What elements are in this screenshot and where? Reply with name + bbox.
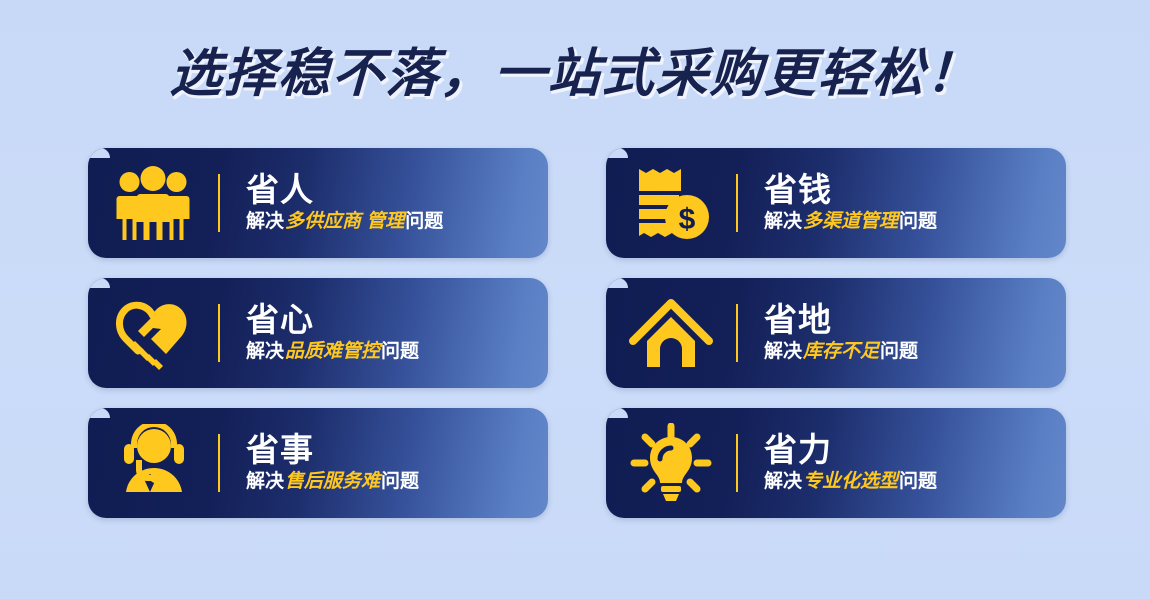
card-title: 省力 (764, 431, 937, 469)
card-title: 省钱 (764, 171, 937, 209)
benefit-card-sheng-xin[interactable]: 省心 解决品质难管控问题 (88, 278, 548, 388)
lightbulb-icon (606, 408, 736, 518)
card-subtitle: 解决库存不足问题 (764, 341, 918, 364)
subtitle-suffix: 问题 (405, 211, 443, 232)
card-text-block: 省钱 解决多渠道管理问题 (764, 171, 937, 236)
handshake-heart-icon (88, 278, 218, 388)
page-title: 选择稳不落，一站式采购更轻松！ (169, 48, 981, 100)
card-text-block: 省人 解决多供应商 管理问题 (246, 171, 443, 236)
promo-banner: 选择稳不落，一站式采购更轻松！ 省人 解 (0, 0, 1150, 599)
card-subtitle: 解决售后服务难问题 (246, 471, 419, 494)
card-divider (736, 174, 738, 232)
card-text-block: 省地 解决库存不足问题 (764, 301, 918, 366)
benefit-card-sheng-di[interactable]: 省地 解决库存不足问题 (606, 278, 1066, 388)
benefit-card-sheng-qian[interactable]: $ 省钱 解决多渠道管理问题 (606, 148, 1066, 258)
card-divider (218, 174, 220, 232)
subtitle-prefix: 解决 (764, 471, 802, 492)
subtitle-suffix: 问题 (381, 341, 419, 362)
card-subtitle: 解决品质难管控问题 (246, 341, 419, 364)
card-text-block: 省事 解决售后服务难问题 (246, 431, 419, 496)
subtitle-prefix: 解决 (764, 341, 802, 362)
card-subtitle: 解决多渠道管理问题 (764, 211, 937, 234)
benefit-card-sheng-li[interactable]: 省力 解决专业化选型问题 (606, 408, 1066, 518)
subtitle-suffix: 问题 (381, 471, 419, 492)
house-icon (606, 278, 736, 388)
subtitle-highlight: 售后服务难 (284, 471, 381, 492)
svg-text:$: $ (679, 203, 696, 236)
subtitle-highlight: 品质难管控 (284, 341, 381, 362)
card-divider (736, 434, 738, 492)
card-divider (736, 304, 738, 362)
subtitle-highlight: 库存不足 (802, 341, 880, 362)
card-text-block: 省力 解决专业化选型问题 (764, 431, 937, 496)
subtitle-highlight: 多渠道管理 (802, 211, 899, 232)
group-people-icon (88, 148, 218, 258)
subtitle-suffix: 问题 (899, 471, 937, 492)
benefit-card-sheng-shi[interactable]: 省事 解决售后服务难问题 (88, 408, 548, 518)
card-subtitle: 解决专业化选型问题 (764, 471, 937, 494)
benefit-card-sheng-ren[interactable]: 省人 解决多供应商 管理问题 (88, 148, 548, 258)
subtitle-suffix: 问题 (899, 211, 937, 232)
subtitle-prefix: 解决 (764, 211, 802, 232)
subtitle-suffix: 问题 (880, 341, 918, 362)
benefit-card-grid: 省人 解决多供应商 管理问题 $ 省钱 解决多渠道 (88, 148, 1066, 518)
card-title: 省事 (246, 431, 419, 469)
subtitle-prefix: 解决 (246, 211, 284, 232)
subtitle-highlight: 多供应商 管理 (284, 211, 405, 232)
card-title: 省地 (764, 301, 918, 339)
headset-support-icon (88, 408, 218, 518)
card-divider (218, 304, 220, 362)
subtitle-prefix: 解决 (246, 341, 284, 362)
card-divider (218, 434, 220, 492)
subtitle-highlight: 专业化选型 (802, 471, 899, 492)
subtitle-prefix: 解决 (246, 471, 284, 492)
card-text-block: 省心 解决品质难管控问题 (246, 301, 419, 366)
headline-container: 选择稳不落，一站式采购更轻松！ (0, 48, 1150, 100)
card-title: 省心 (246, 301, 419, 339)
receipt-dollar-icon: $ (606, 148, 736, 258)
card-subtitle: 解决多供应商 管理问题 (246, 211, 443, 234)
card-title: 省人 (246, 171, 443, 209)
